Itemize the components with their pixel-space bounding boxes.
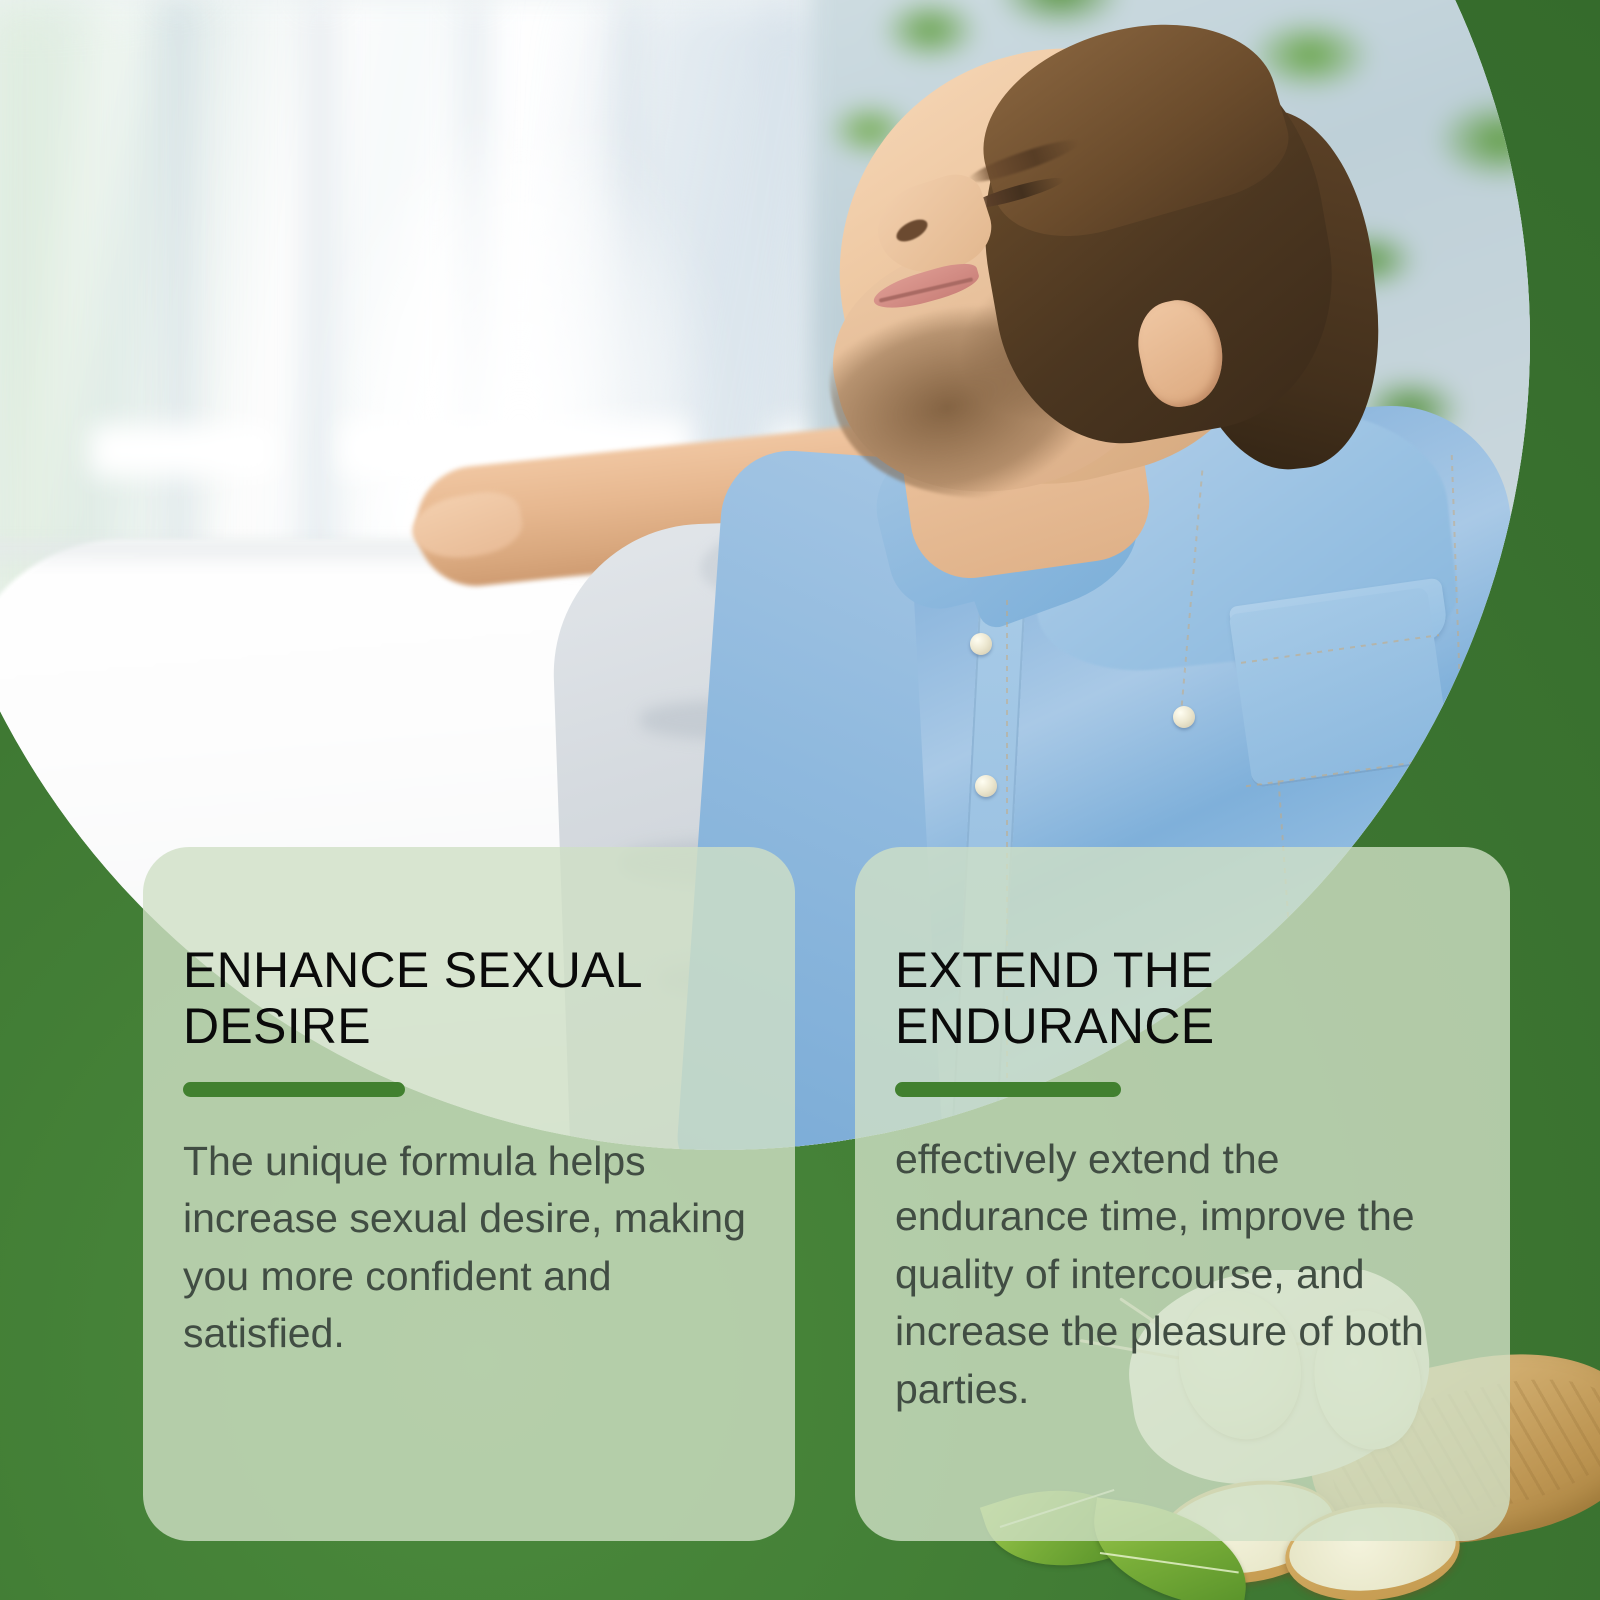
card-body-text: effectively extend the endurance time, i… bbox=[895, 1131, 1464, 1418]
card-title: ENHANCE SEXUAL DESIRE bbox=[183, 943, 749, 1054]
card-title: EXTEND THE ENDURANCE bbox=[895, 943, 1464, 1054]
card-divider-bar bbox=[895, 1082, 1121, 1097]
benefit-card-enhance-sexual-desire: ENHANCE SEXUAL DESIRE The unique formula… bbox=[143, 847, 795, 1541]
benefit-card-extend-the-endurance: EXTEND THE ENDURANCE effectively extend … bbox=[855, 847, 1510, 1541]
benefit-cards: ENHANCE SEXUAL DESIRE The unique formula… bbox=[0, 0, 1600, 1600]
card-divider-bar bbox=[183, 1082, 405, 1097]
card-body-text: The unique formula helps increase sexual… bbox=[183, 1133, 749, 1363]
